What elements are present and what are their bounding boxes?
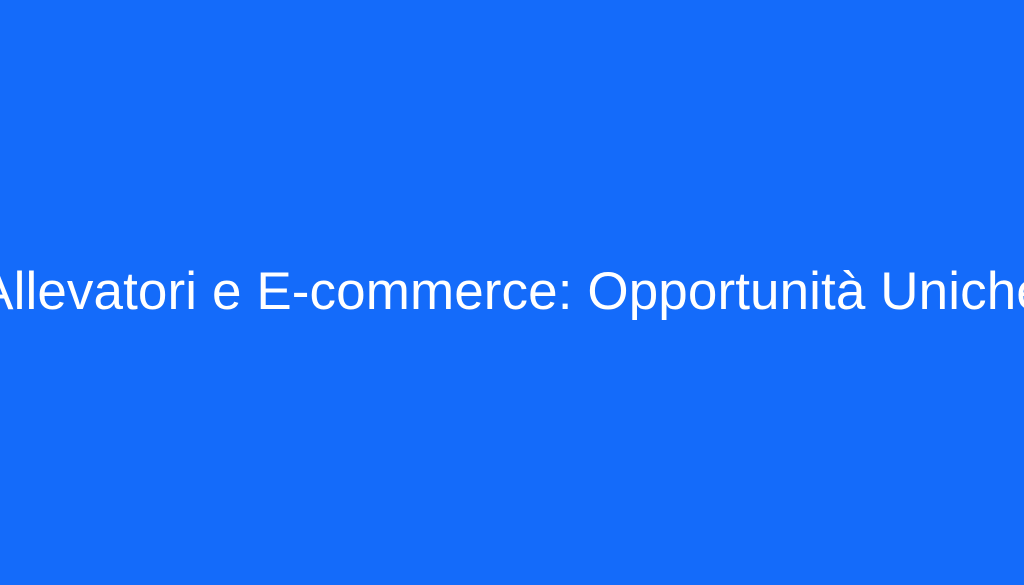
title-card: Allevatori e E-commerce: Opportunità Uni… [0,0,1024,585]
page-title: Allevatori e E-commerce: Opportunità Uni… [0,262,1024,322]
title-card-content: Allevatori e E-commerce: Opportunità Uni… [0,262,1024,322]
